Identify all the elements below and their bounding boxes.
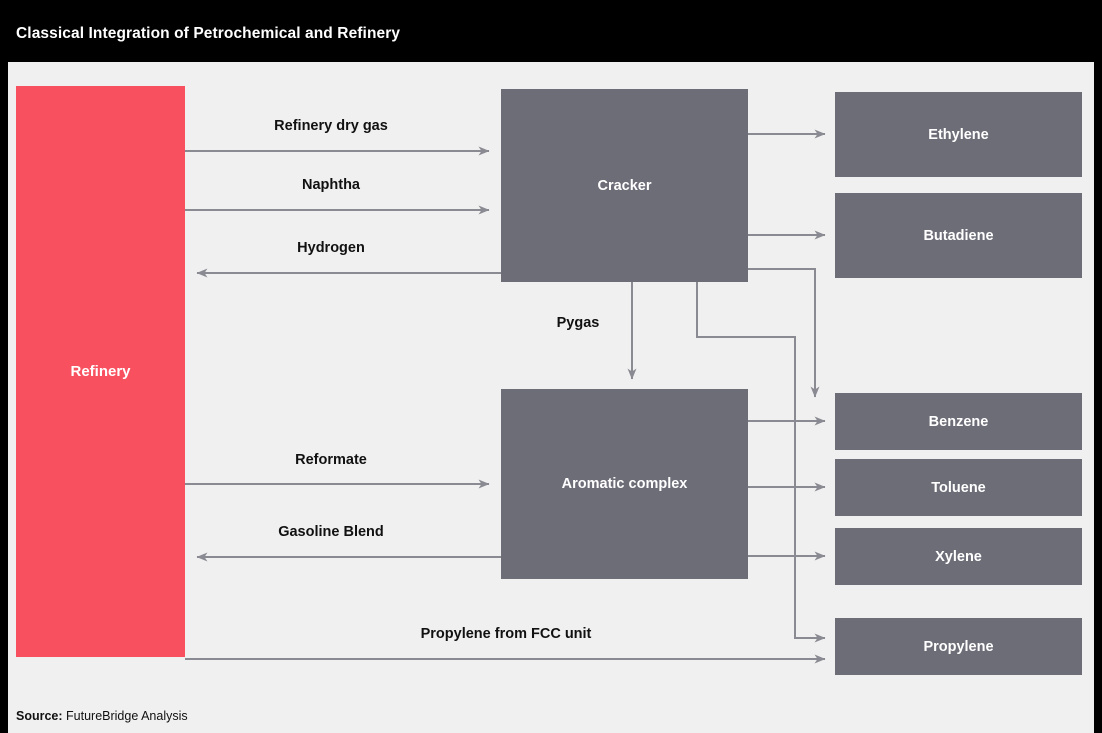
edge-label-gasoline-blend: Gasoline Blend	[278, 524, 384, 540]
page-title: Classical Integration of Petrochemical a…	[16, 25, 400, 43]
node-butadiene[interactable]: Butadiene	[835, 193, 1082, 278]
node-ethylene-label: Ethylene	[928, 127, 988, 143]
diagram-canvas: Refinery Cracker Aromatic complex Ethyle…	[8, 62, 1094, 699]
node-benzene-label: Benzene	[929, 414, 989, 430]
node-propylene-label: Propylene	[923, 639, 993, 655]
node-xylene[interactable]: Xylene	[835, 528, 1082, 585]
edge-label-naphtha: Naphtha	[302, 177, 360, 193]
node-refinery-label: Refinery	[70, 363, 130, 380]
edge-label-propylene-from-fcc-unit: Propylene from FCC unit	[421, 626, 592, 642]
source-value: FutureBridge Analysis	[66, 709, 188, 723]
edge-cracker-benzene	[748, 269, 815, 397]
edge-label-reformate: Reformate	[295, 452, 367, 468]
node-toluene-label: Toluene	[931, 480, 986, 496]
node-aromatic-complex-label: Aromatic complex	[562, 476, 688, 492]
node-propylene[interactable]: Propylene	[835, 618, 1082, 675]
node-benzene[interactable]: Benzene	[835, 393, 1082, 450]
node-toluene[interactable]: Toluene	[835, 459, 1082, 516]
footer-bar: Source: FutureBridge Analysis	[8, 699, 1094, 733]
source-note: Source: FutureBridge Analysis	[16, 709, 188, 723]
edge-label-hydrogen: Hydrogen	[297, 240, 365, 256]
node-ethylene[interactable]: Ethylene	[835, 92, 1082, 177]
source-label: Source:	[16, 709, 63, 723]
diagram-screen: Classical Integration of Petrochemical a…	[0, 0, 1102, 733]
node-xylene-label: Xylene	[935, 549, 982, 565]
title-bar: Classical Integration of Petrochemical a…	[0, 0, 1102, 62]
node-cracker-label: Cracker	[597, 178, 651, 194]
node-refinery[interactable]: Refinery	[16, 86, 185, 657]
node-cracker[interactable]: Cracker	[501, 89, 748, 282]
node-aromatic-complex[interactable]: Aromatic complex	[501, 389, 748, 579]
edge-label-pygas: Pygas	[557, 315, 600, 331]
node-butadiene-label: Butadiene	[923, 228, 993, 244]
edge-label-refinery-dry-gas: Refinery dry gas	[274, 118, 388, 134]
